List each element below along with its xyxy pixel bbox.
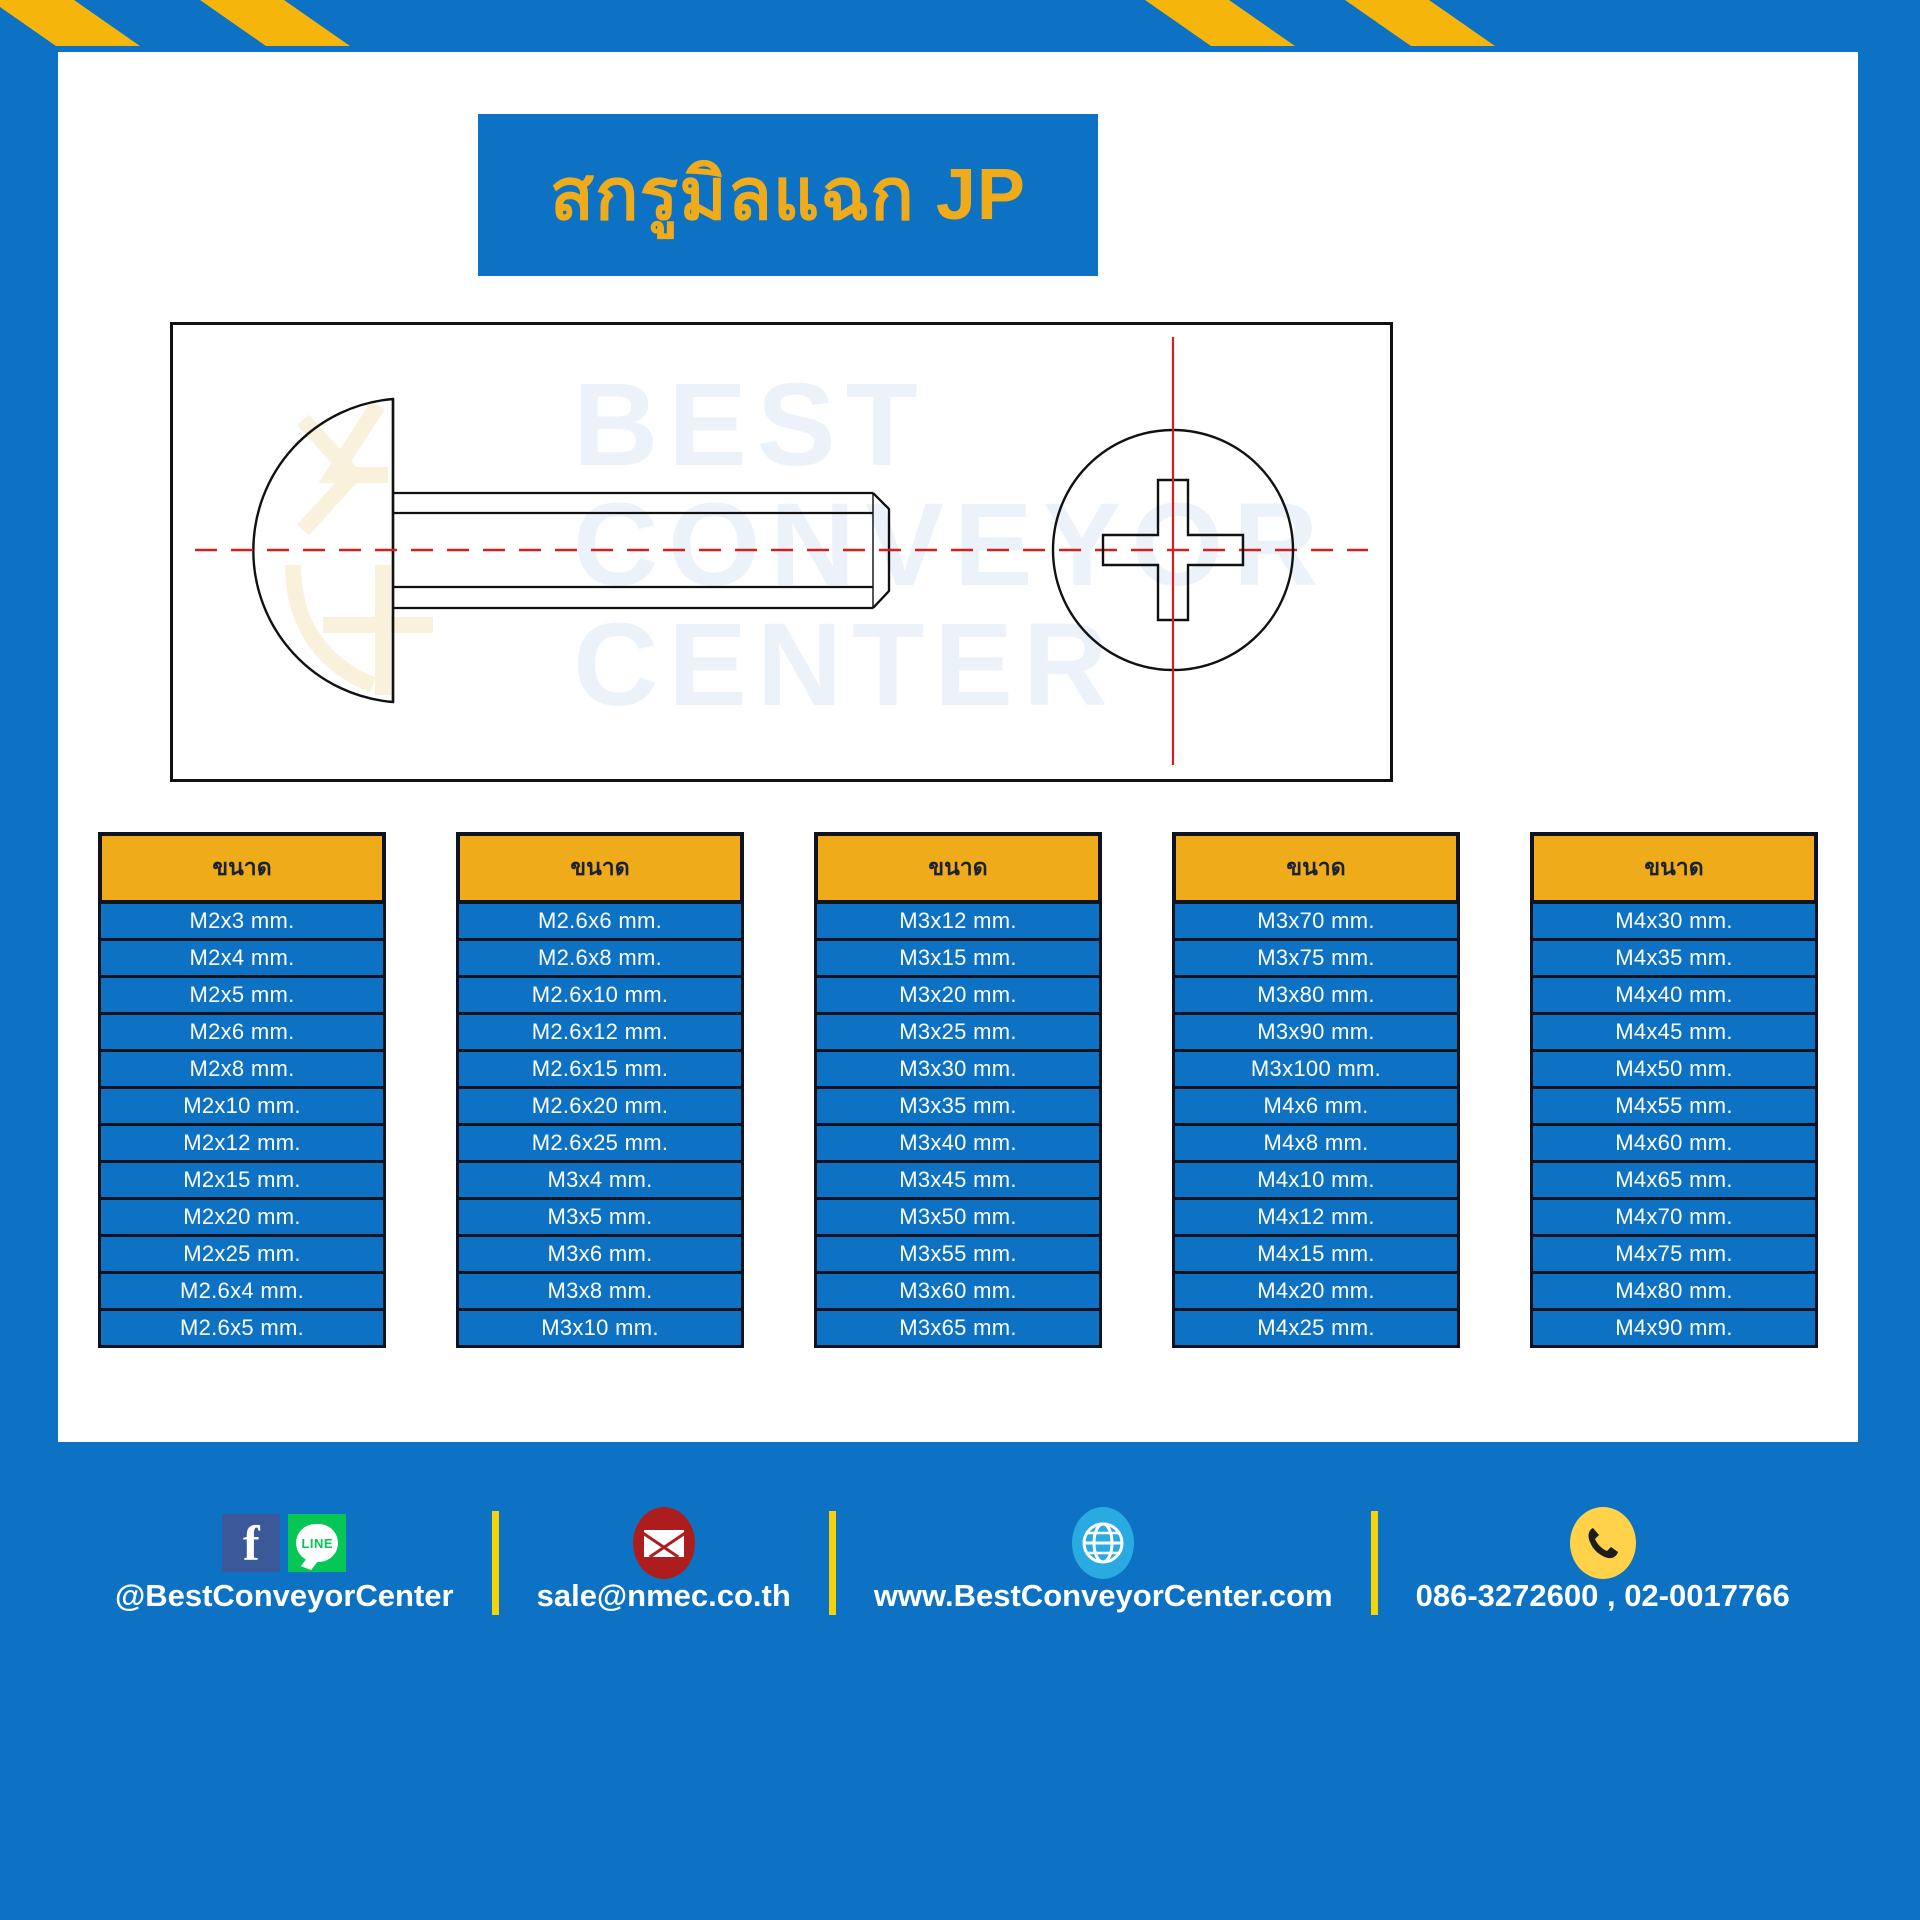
size-value: M4x55 mm. [1615,1093,1733,1119]
table-row[interactable]: M3x90 mm. [1172,1015,1460,1052]
table-row[interactable]: M3x6 mm. [456,1237,744,1274]
table-row[interactable]: M3x55 mm. [814,1237,1102,1274]
size-value: M4x10 mm. [1257,1167,1375,1193]
table-row[interactable]: M2.6x6 mm. [456,904,744,941]
size-value: M4x35 mm. [1615,945,1733,971]
size-value: M2.6x8 mm. [538,945,662,971]
table-header-label: ขนาด [570,850,629,886]
table-row[interactable]: M4x80 mm. [1530,1274,1818,1311]
table-header-label: ขนาด [1286,850,1345,886]
size-value: M3x4 mm. [547,1167,652,1193]
facebook-handle: @BestConveyorCenter [115,1578,454,1614]
size-value: M3x65 mm. [899,1315,1017,1341]
size-value: M2.6x5 mm. [180,1315,304,1341]
table-row[interactable]: M4x75 mm. [1530,1237,1818,1274]
contact-group-phone[interactable]: 086-3272600 , 02-0017766 [1416,1512,1790,1614]
size-value: M4x60 mm. [1615,1130,1733,1156]
size-value: M4x80 mm. [1615,1278,1733,1304]
size-value: M3x90 mm. [1257,1019,1375,1045]
size-value: M3x80 mm. [1257,982,1375,1008]
table-row[interactable]: M4x12 mm. [1172,1200,1460,1237]
table-row[interactable]: M3x75 mm. [1172,941,1460,978]
table-header-cell: ขนาด [1530,832,1818,904]
contact-group-social[interactable]: f LINE @BestConveyorCenter [115,1512,454,1614]
table-row[interactable]: M3x40 mm. [814,1126,1102,1163]
table-row[interactable]: M4x90 mm. [1530,1311,1818,1348]
table-row[interactable]: M2x4 mm. [98,941,386,978]
table-row[interactable]: M2x25 mm. [98,1237,386,1274]
content-card: สกรูมิลแฉก JP BEST CONVEYOR CENTER [58,52,1858,1442]
table-row[interactable]: M2.6x12 mm. [456,1015,744,1052]
table-row[interactable]: M2.6x5 mm. [98,1311,386,1348]
svg-text:BEST: BEST [573,359,928,491]
table-row[interactable]: M4x10 mm. [1172,1163,1460,1200]
table-header-label: ขนาด [1644,850,1703,886]
size-value: M4x12 mm. [1257,1204,1375,1230]
size-value: M2x3 mm. [189,908,294,934]
size-value: M2.6x6 mm. [538,908,662,934]
title-banner: สกรูมิลแฉก JP [478,114,1098,276]
table-row[interactable]: M4x15 mm. [1172,1237,1460,1274]
table-row[interactable]: M4x8 mm. [1172,1126,1460,1163]
size-value: M3x60 mm. [899,1278,1017,1304]
size-value: M2x25 mm. [183,1241,301,1267]
table-row[interactable]: M4x60 mm. [1530,1126,1818,1163]
size-table-4: ขนาด M3x70 mm. M3x75 mm. M3x80 mm. M3x90… [1172,832,1460,1392]
table-row[interactable]: M4x50 mm. [1530,1052,1818,1089]
size-value: M4x25 mm. [1257,1315,1375,1341]
size-value: M3x25 mm. [899,1019,1017,1045]
table-row[interactable]: M3x45 mm. [814,1163,1102,1200]
table-row[interactable]: M4x45 mm. [1530,1015,1818,1052]
table-row[interactable]: M2x20 mm. [98,1200,386,1237]
size-value: M4x8 mm. [1263,1130,1368,1156]
phone-numbers: 086-3272600 , 02-0017766 [1416,1578,1790,1614]
size-value: M2x20 mm. [183,1204,301,1230]
table-row[interactable]: M4x40 mm. [1530,978,1818,1015]
size-value: M2x10 mm. [183,1093,301,1119]
size-value: M2.6x20 mm. [532,1093,669,1119]
table-row[interactable]: M3x50 mm. [814,1200,1102,1237]
size-value: M2x6 mm. [189,1019,294,1045]
size-value: M3x70 mm. [1257,908,1375,934]
email-icon[interactable] [633,1507,695,1579]
table-row[interactable]: M2.6x25 mm. [456,1126,744,1163]
size-value: M2x15 mm. [183,1167,301,1193]
phone-icon[interactable] [1570,1507,1636,1579]
size-value: M2x5 mm. [189,982,294,1008]
table-row[interactable]: M2.6x15 mm. [456,1052,744,1089]
table-row[interactable]: M4x25 mm. [1172,1311,1460,1348]
size-value: M4x20 mm. [1257,1278,1375,1304]
table-header-cell: ขนาด [814,832,1102,904]
table-row[interactable]: M2x8 mm. [98,1052,386,1089]
footer-divider [829,1511,836,1615]
size-value: M3x40 mm. [899,1130,1017,1156]
table-row[interactable]: M2.6x8 mm. [456,941,744,978]
size-value: M3x8 mm. [547,1278,652,1304]
watermark-text: BEST CONVEYOR CENTER [573,359,1328,731]
size-value: M4x40 mm. [1615,982,1733,1008]
line-icon-label: LINE [301,1536,333,1551]
contact-group-email[interactable]: sale@nmec.co.th [537,1512,791,1614]
size-value: M2x8 mm. [189,1056,294,1082]
table-row[interactable]: M3x70 mm. [1172,904,1460,941]
size-value: M4x6 mm. [1263,1093,1368,1119]
table-row[interactable]: M3x10 mm. [456,1311,744,1348]
table-row[interactable]: M4x30 mm. [1530,904,1818,941]
size-value: M3x45 mm. [899,1167,1017,1193]
contact-group-website[interactable]: www.BestConveyorCenter.com [874,1512,1333,1614]
size-value: M2x4 mm. [189,945,294,971]
size-value: M2.6x25 mm. [532,1130,669,1156]
size-value: M2.6x12 mm. [532,1019,669,1045]
email-address: sale@nmec.co.th [537,1578,791,1614]
table-row[interactable]: M3x80 mm. [1172,978,1460,1015]
table-row[interactable]: M3x5 mm. [456,1200,744,1237]
size-value: M2.6x4 mm. [180,1278,304,1304]
size-value: M2x12 mm. [183,1130,301,1156]
size-value: M3x30 mm. [899,1056,1017,1082]
table-header-cell: ขนาด [456,832,744,904]
table-header-cell: ขนาด [1172,832,1460,904]
table-row[interactable]: M4x55 mm. [1530,1089,1818,1126]
table-row[interactable]: M3x4 mm. [456,1163,744,1200]
table-row[interactable]: M3x35 mm. [814,1089,1102,1126]
poster-root: สกรูมิลแฉก JP BEST CONVEYOR CENTER [0,0,1920,1920]
size-value: M3x5 mm. [547,1204,652,1230]
size-value: M3x15 mm. [899,945,1017,971]
drawing-svg: BEST CONVEYOR CENTER [173,325,1390,779]
table-header-cell: ขนาด [98,832,386,904]
table-row[interactable]: M3x60 mm. [814,1274,1102,1311]
footer-divider [492,1511,499,1615]
size-table-2: ขนาด M2.6x6 mm. M2.6x8 mm. M2.6x10 mm. M… [456,832,744,1392]
table-row[interactable]: M4x6 mm. [1172,1089,1460,1126]
size-value: M3x100 mm. [1251,1056,1381,1082]
size-value: M4x65 mm. [1615,1167,1733,1193]
size-value: M3x10 mm. [541,1315,659,1341]
size-value: M3x20 mm. [899,982,1017,1008]
table-row[interactable]: M2.6x20 mm. [456,1089,744,1126]
table-row[interactable]: M2x5 mm. [98,978,386,1015]
size-value: M3x55 mm. [899,1241,1017,1267]
table-row[interactable]: M3x20 mm. [814,978,1102,1015]
size-table-3: ขนาด M3x12 mm. M3x15 mm. M3x20 mm. M3x25… [814,832,1102,1392]
page-title: สกรูมิลแฉก JP [550,159,1026,231]
size-value: M4x70 mm. [1615,1204,1733,1230]
table-row[interactable]: M4x65 mm. [1530,1163,1818,1200]
size-table-1: ขนาด M2x3 mm. M2x4 mm. M2x5 mm. M2x6 mm.… [98,832,386,1392]
table-row[interactable]: M4x35 mm. [1530,941,1818,978]
size-value: M3x75 mm. [1257,945,1375,971]
table-row[interactable]: M4x20 mm. [1172,1274,1460,1311]
size-value: M3x35 mm. [899,1093,1017,1119]
size-value: M4x15 mm. [1257,1241,1375,1267]
contact-footer: f LINE @BestConveyorCenter sale@nmec.co.… [0,1470,1920,1920]
size-value: M4x45 mm. [1615,1019,1733,1045]
table-row[interactable]: M3x25 mm. [814,1015,1102,1052]
size-value: M2.6x15 mm. [532,1056,669,1082]
table-row[interactable]: M2x10 mm. [98,1089,386,1126]
line-icon[interactable]: LINE [288,1514,346,1572]
table-row[interactable]: M4x70 mm. [1530,1200,1818,1237]
table-row[interactable]: M3x15 mm. [814,941,1102,978]
table-row[interactable]: M2.6x4 mm. [98,1274,386,1311]
table-row[interactable]: M2x3 mm. [98,904,386,941]
top-chevron-strip [0,0,1920,46]
table-row[interactable]: M3x8 mm. [456,1274,744,1311]
table-row[interactable]: M2x15 mm. [98,1163,386,1200]
svg-text:CENTER: CENTER [573,599,1118,731]
table-header-label: ขนาด [928,850,987,886]
size-value: M2.6x10 mm. [532,982,669,1008]
size-value: M3x6 mm. [547,1241,652,1267]
table-row[interactable]: M2.6x10 mm. [456,978,744,1015]
footer-divider [1371,1511,1378,1615]
website-url: www.BestConveyorCenter.com [874,1578,1333,1614]
table-row[interactable]: M2x12 mm. [98,1126,386,1163]
size-value: M4x30 mm. [1615,908,1733,934]
size-tables: ขนาด M2x3 mm. M2x4 mm. M2x5 mm. M2x6 mm.… [98,832,1818,1392]
table-header-label: ขนาด [212,850,271,886]
globe-icon[interactable] [1072,1507,1134,1579]
size-value: M4x90 mm. [1615,1315,1733,1341]
svg-text:CONVEYOR: CONVEYOR [573,479,1328,611]
table-row[interactable]: M3x12 mm. [814,904,1102,941]
table-row[interactable]: M2x6 mm. [98,1015,386,1052]
size-table-5: ขนาด M4x30 mm. M4x35 mm. M4x40 mm. M4x45… [1530,832,1818,1392]
technical-drawing: BEST CONVEYOR CENTER [170,322,1393,782]
size-value: M4x75 mm. [1615,1241,1733,1267]
size-value: M3x12 mm. [899,908,1017,934]
size-value: M3x50 mm. [899,1204,1017,1230]
facebook-icon[interactable]: f [222,1514,280,1572]
table-row[interactable]: M3x100 mm. [1172,1052,1460,1089]
table-row[interactable]: M3x65 mm. [814,1311,1102,1348]
table-row[interactable]: M3x30 mm. [814,1052,1102,1089]
size-value: M4x50 mm. [1615,1056,1733,1082]
